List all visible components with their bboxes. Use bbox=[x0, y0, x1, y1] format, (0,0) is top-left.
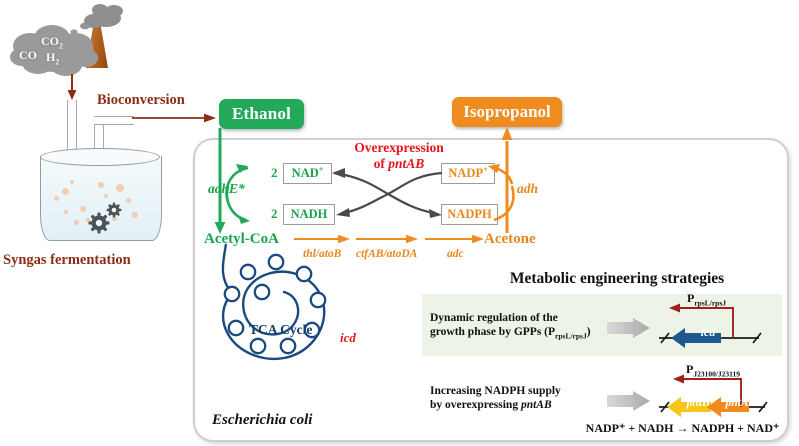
nadh-box: NADH bbox=[283, 204, 335, 225]
strategy-2-text: Increasing NADPH supply by overexpressin… bbox=[430, 384, 610, 412]
transhydrogenase-crossing-arrows bbox=[330, 165, 446, 223]
organism-label: Escherichia coli bbox=[212, 412, 312, 429]
isopropanol-box[interactable]: Isopropanol bbox=[452, 97, 562, 127]
icd-promoter-label: PrpsL/rpsJ bbox=[687, 291, 726, 307]
fermenter-vessel bbox=[40, 148, 162, 248]
strategy-1-gray-arrow bbox=[607, 318, 651, 338]
strategies-title: Metabolic engineering strategies bbox=[452, 270, 782, 288]
pntA-gene-label: pntA bbox=[722, 396, 752, 409]
pntB-gene-label: pntB bbox=[683, 396, 713, 409]
tca-cycle-diagram bbox=[218, 240, 368, 370]
pnt-reaction-equation: NADP⁺ + NADH → NADPH + NAD⁺ bbox=[575, 421, 790, 436]
strategy-1-text: Dynamic regulation of the growth phase b… bbox=[430, 311, 610, 343]
nad-stoich: 2 bbox=[271, 165, 278, 181]
adhE-label: adhE* bbox=[208, 181, 245, 197]
outlet-pipe-horizontal bbox=[94, 116, 134, 125]
tca-cycle-label: TCA Cycle bbox=[249, 322, 312, 338]
icd-enzyme-label: icd bbox=[340, 330, 356, 346]
ethanol-box[interactable]: Ethanol bbox=[219, 99, 304, 129]
gas-label-co: CO bbox=[19, 48, 37, 63]
bioconversion-label: Bioconversion bbox=[97, 92, 185, 109]
adh-label: adh bbox=[517, 181, 538, 197]
overexpression-annotation: Overexpression of pntAB bbox=[329, 140, 469, 172]
gas-feed-arrow bbox=[62, 74, 82, 102]
strategy-2-gray-arrow bbox=[607, 391, 651, 411]
gas-label-co2: CO2 bbox=[41, 34, 63, 50]
syngas-fermentation-caption: Syngas fermentation bbox=[3, 252, 131, 269]
icd-gene-label: icd bbox=[691, 326, 725, 339]
nadh-stoich: 2 bbox=[271, 206, 278, 222]
pntAB-promoter-label: PJ23100/J23119 bbox=[686, 362, 740, 378]
nad-plus-box: NAD+ bbox=[283, 163, 332, 184]
gas-label-h2: H2 bbox=[46, 50, 59, 66]
gear-icon-small bbox=[106, 202, 122, 218]
enzyme-adc: adc bbox=[447, 248, 464, 260]
bioconversion-arrow bbox=[132, 112, 218, 124]
